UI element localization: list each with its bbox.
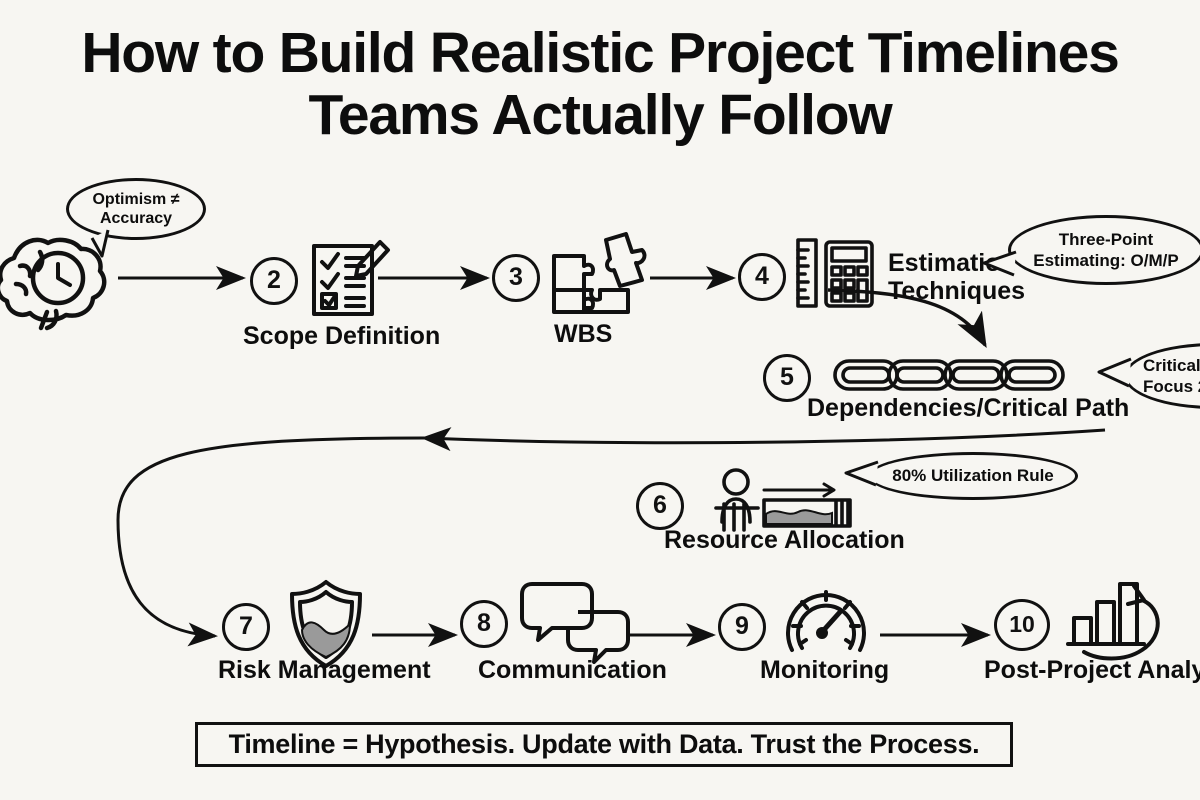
step-label-10: Post-Project Analy xyxy=(984,656,1200,684)
callout-three-point-tail xyxy=(978,248,1020,280)
page-title: How to Build Realistic Project Timelines… xyxy=(0,22,1200,146)
callout-optimism-text: Optimism ≠ Accuracy xyxy=(82,190,189,228)
step-label-3: WBS xyxy=(554,320,612,348)
step-number-5: 5 xyxy=(763,354,811,402)
step-number-8: 8 xyxy=(460,600,508,648)
step-label-5: Dependencies/Critical Path xyxy=(807,394,1129,422)
ruler-calculator-icon xyxy=(794,236,876,317)
step-node-7[interactable]: 7 Risk Management xyxy=(222,578,368,675)
callout-optimism-tail xyxy=(78,228,118,262)
callout-utilization-tail xyxy=(842,460,882,490)
step-node-2[interactable]: 2 Scope Definition xyxy=(250,236,392,325)
step-number-6: 6 xyxy=(636,482,684,530)
step-number-9: 9 xyxy=(718,603,766,651)
closing-statement-text: Timeline = Hypothesis. Update with Data.… xyxy=(229,729,980,760)
title-line-2: Teams Actually Follow xyxy=(0,84,1200,146)
step-number-10: 10 xyxy=(994,599,1050,651)
title-line-1: How to Build Realistic Project Timelines xyxy=(0,22,1200,84)
callout-critical-path-tail xyxy=(1093,356,1135,390)
checklist-pencil-icon xyxy=(306,236,392,325)
step-label-2: Scope Definition xyxy=(243,322,440,350)
step-number-3: 3 xyxy=(492,254,540,302)
infographic-canvas: How to Build Realistic Project Timelines… xyxy=(0,0,1200,800)
callout-critical-path-text: Critical P Focus 2 xyxy=(1127,355,1200,397)
step-node-9[interactable]: 9 Monitoring xyxy=(718,578,872,675)
step-number-7: 7 xyxy=(222,603,270,651)
step-node-5[interactable]: 5 Dependencies/Critical Path xyxy=(763,352,1069,403)
callout-utilization-text: 80% Utilization Rule xyxy=(882,466,1064,486)
closing-statement-banner: Timeline = Hypothesis. Update with Data.… xyxy=(195,722,1013,767)
callout-critical-path: Critical P Focus 2 xyxy=(1124,343,1200,409)
callout-three-point-text: Three-Point Estimating: O/M/P xyxy=(1023,229,1188,271)
step-label-8: Communication xyxy=(478,656,667,684)
step-label-7: Risk Management xyxy=(218,656,431,684)
step-number-4: 4 xyxy=(738,253,786,301)
callout-three-point: Three-Point Estimating: O/M/P xyxy=(1008,215,1200,285)
step-label-9: Monitoring xyxy=(760,656,889,684)
step-number-2: 2 xyxy=(250,257,298,305)
puzzle-pieces-icon xyxy=(548,232,652,323)
step-node-3[interactable]: 3 WBS xyxy=(492,232,652,323)
step-label-6: Resource Allocation xyxy=(664,526,905,554)
step-node-10[interactable]: 10 Post-Project Analy xyxy=(994,578,1174,671)
callout-utilization: 80% Utilization Rule xyxy=(868,452,1078,500)
step-node-8[interactable]: 8 Communication xyxy=(460,578,632,669)
